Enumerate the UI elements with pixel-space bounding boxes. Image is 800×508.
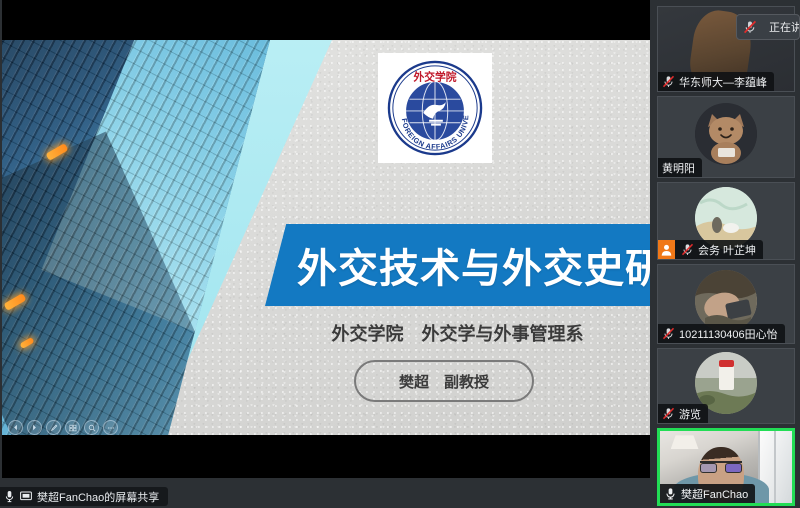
participant-name: 樊超FanChao [681, 486, 748, 502]
next-slide-button[interactable] [27, 420, 42, 435]
participant-name: 会务 叶芷坤 [698, 242, 756, 258]
mic-active-icon [664, 487, 677, 500]
shared-screen-content: 外交学院 CHINA FOREIGN AFFAIRS UNIVERSITY 外交… [2, 0, 650, 478]
pen-tool-button[interactable] [46, 420, 61, 435]
meeting-window: 外交学院 CHINA FOREIGN AFFAIRS UNIVERSITY 外交… [0, 0, 800, 508]
participant-name-chip: 樊超FanChao [660, 484, 755, 503]
more-options-button[interactable] [103, 420, 118, 435]
avatar [695, 270, 757, 332]
speaking-tooltip: 正在讲话: [736, 14, 800, 40]
slide-title: 外交技术与外交史研究 [297, 236, 650, 294]
mic-muted-icon [662, 407, 675, 420]
participant-name-chip: 10211130406田心怡 [658, 324, 785, 343]
shared-screen-region[interactable]: 外交学院 CHINA FOREIGN AFFAIRS UNIVERSITY 外交… [0, 0, 652, 508]
screen-share-icon [20, 491, 32, 502]
mic-muted-icon [681, 243, 694, 256]
participant-tile-active-speaker[interactable]: 樊超FanChao [657, 428, 795, 506]
powerpoint-slideshow-toolbar[interactable] [8, 420, 118, 435]
participant-name-chip: 游览 [658, 404, 708, 423]
participant-name: 华东师大—李蕴峰 [679, 74, 767, 90]
participant-name-chip: 黄明阳 [658, 158, 702, 177]
participant-name: 黄明阳 [662, 160, 695, 176]
presentation-slide[interactable]: 外交学院 CHINA FOREIGN AFFAIRS UNIVERSITY 外交… [2, 40, 650, 435]
participant-tile[interactable]: 会务 叶芷坤 [657, 182, 795, 260]
mic-muted-icon [662, 75, 675, 88]
participant-tile[interactable]: 游览 [657, 348, 795, 424]
screen-share-status-bar[interactable]: 樊超FanChao的屏幕共享 [0, 487, 168, 506]
microphone-icon [4, 490, 15, 503]
participant-name-chip: 会务 叶芷坤 [658, 240, 763, 259]
cfau-seal-icon: 外交学院 CHINA FOREIGN AFFAIRS UNIVERSITY [386, 59, 484, 157]
zoom-in-button[interactable] [84, 420, 99, 435]
speaking-tooltip-text: 正在讲话: [769, 19, 800, 35]
participant-name: 10211130406田心怡 [679, 326, 778, 342]
university-logo: 外交学院 CHINA FOREIGN AFFAIRS UNIVERSITY [378, 53, 492, 163]
screen-share-status-label: 樊超FanChao的屏幕共享 [37, 489, 159, 505]
mic-muted-icon [662, 327, 675, 340]
participant-tile[interactable]: 黄明阳 [657, 96, 795, 178]
slide-title-banner: 外交技术与外交史研究 [265, 224, 650, 306]
all-slides-button[interactable] [65, 420, 80, 435]
host-badge-icon [658, 240, 675, 259]
slide-subtitle: 外交学院 外交学与外事管理系 [265, 320, 650, 346]
svg-text:外交学院: 外交学院 [412, 71, 456, 84]
mic-muted-icon [743, 20, 757, 34]
avatar [695, 103, 757, 165]
participant-panel[interactable]: 华东师大—李蕴峰 [652, 0, 800, 508]
participant-name: 游览 [679, 406, 701, 422]
participant-tile[interactable]: 10211130406田心怡 [657, 264, 795, 344]
previous-slide-button[interactable] [8, 420, 23, 435]
presenter-name-pill: 樊超 副教授 [354, 360, 534, 402]
participant-name-chip: 华东师大—李蕴峰 [658, 72, 774, 91]
